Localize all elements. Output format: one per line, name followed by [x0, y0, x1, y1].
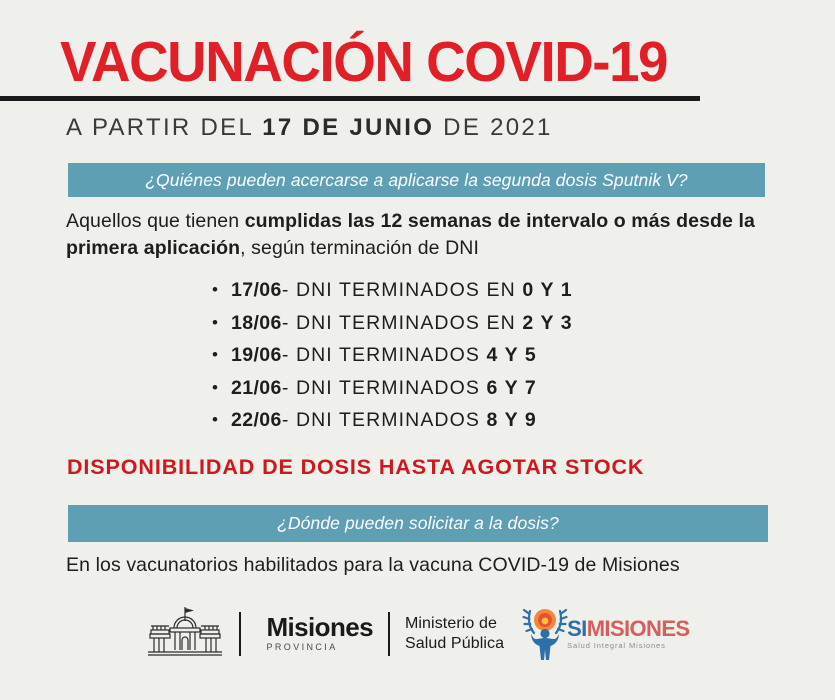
eligibility-suffix: , según terminación de DNI — [240, 237, 479, 259]
dni-digits: 8 Y 9 — [487, 409, 537, 431]
list-item: 19/06- DNI TERMINADOS 4 Y 5 — [212, 339, 573, 372]
subtitle-prefix: A PARTIR DEL — [66, 114, 262, 141]
dni-separator: - — [282, 344, 296, 366]
list-item: 22/06- DNI TERMINADOS 8 Y 9 — [212, 404, 573, 437]
dni-date: 18/06 — [231, 312, 282, 334]
list-item: 18/06- DNI TERMINADOS EN 2 Y 3 — [212, 307, 573, 340]
dni-schedule-list: 17/06- DNI TERMINADOS EN 0 Y 1 18/06- DN… — [212, 274, 573, 437]
misiones-wordmark: Misiones PROVINCIA — [267, 614, 373, 654]
ministry-line-1: Ministerio de — [405, 614, 504, 634]
page-title: VACUNACIÓN COVID-19 — [60, 31, 667, 93]
dni-date: 17/06 — [231, 279, 282, 301]
eligibility-paragraph: Aquellos que tienen cumplidas las 12 sem… — [66, 208, 771, 262]
dni-digits: 4 Y 5 — [487, 344, 537, 366]
logo-divider-2 — [388, 612, 390, 656]
simisiones-figure-icon — [517, 603, 573, 666]
subtitle-date: 17 DE JUNIO — [262, 114, 434, 141]
ministry-line-2: Salud Pública — [405, 634, 504, 654]
dni-label: DNI TERMINADOS — [296, 377, 487, 399]
banner-where-question: ¿Dónde pueden solicitar a la dosis? — [68, 505, 768, 542]
dni-label: DNI TERMINADOS — [296, 344, 487, 366]
simisiones-rest: MISIONES — [587, 616, 690, 641]
dni-digits: 2 Y 3 — [522, 312, 572, 334]
logo-divider-1 — [239, 612, 241, 656]
simisiones-name: SIMISIONES — [567, 618, 689, 640]
dni-digits: 6 Y 7 — [487, 377, 537, 399]
simisiones-logo: SIMISIONES Salud Integral Misiones — [517, 603, 689, 666]
simisiones-wordmark: SIMISIONES Salud Integral Misiones — [567, 618, 689, 651]
subtitle-suffix: DE 2021 — [434, 114, 552, 141]
province-subtitle: PROVINCIA — [267, 641, 338, 654]
footer-logo-bar: Misiones PROVINCIA Ministerio de Salud P… — [0, 598, 835, 670]
dni-label: DNI TERMINADOS EN — [296, 312, 522, 334]
province-name: Misiones — [267, 614, 373, 640]
eligibility-prefix: Aquellos que tienen — [66, 210, 245, 232]
title-divider-rule — [0, 96, 700, 101]
dni-digits: 0 Y 1 — [522, 279, 572, 301]
dni-separator: - — [282, 312, 296, 334]
dni-label: DNI TERMINADOS EN — [296, 279, 522, 301]
simisiones-si: SI — [567, 616, 587, 641]
government-house-icon — [146, 606, 224, 662]
where-paragraph: En los vacunatorios habilitados para la … — [66, 552, 766, 578]
page-subtitle: A PARTIR DEL 17 DE JUNIO DE 2021 — [66, 113, 553, 143]
misiones-province-logo: Misiones PROVINCIA — [146, 606, 373, 662]
dni-date: 19/06 — [231, 344, 282, 366]
poster-canvas: VACUNACIÓN COVID-19 A PARTIR DEL 17 DE J… — [0, 0, 835, 700]
stock-availability-note: DISPONIBILIDAD DE DOSIS HASTA AGOTAR STO… — [67, 455, 644, 480]
dni-date: 22/06 — [231, 409, 282, 431]
list-item: 21/06- DNI TERMINADOS 6 Y 7 — [212, 372, 573, 405]
ministry-wordmark: Ministerio de Salud Pública — [405, 614, 504, 654]
list-item: 17/06- DNI TERMINADOS EN 0 Y 1 — [212, 274, 573, 307]
dni-separator: - — [282, 279, 296, 301]
dni-label: DNI TERMINADOS — [296, 409, 487, 431]
dni-separator: - — [282, 377, 296, 399]
dni-separator: - — [282, 409, 296, 431]
banner-who-question: ¿Quiénes pueden acercarse a aplicarse la… — [68, 163, 765, 197]
dni-date: 21/06 — [231, 377, 282, 399]
simisiones-tagline: Salud Integral Misiones — [567, 641, 689, 651]
